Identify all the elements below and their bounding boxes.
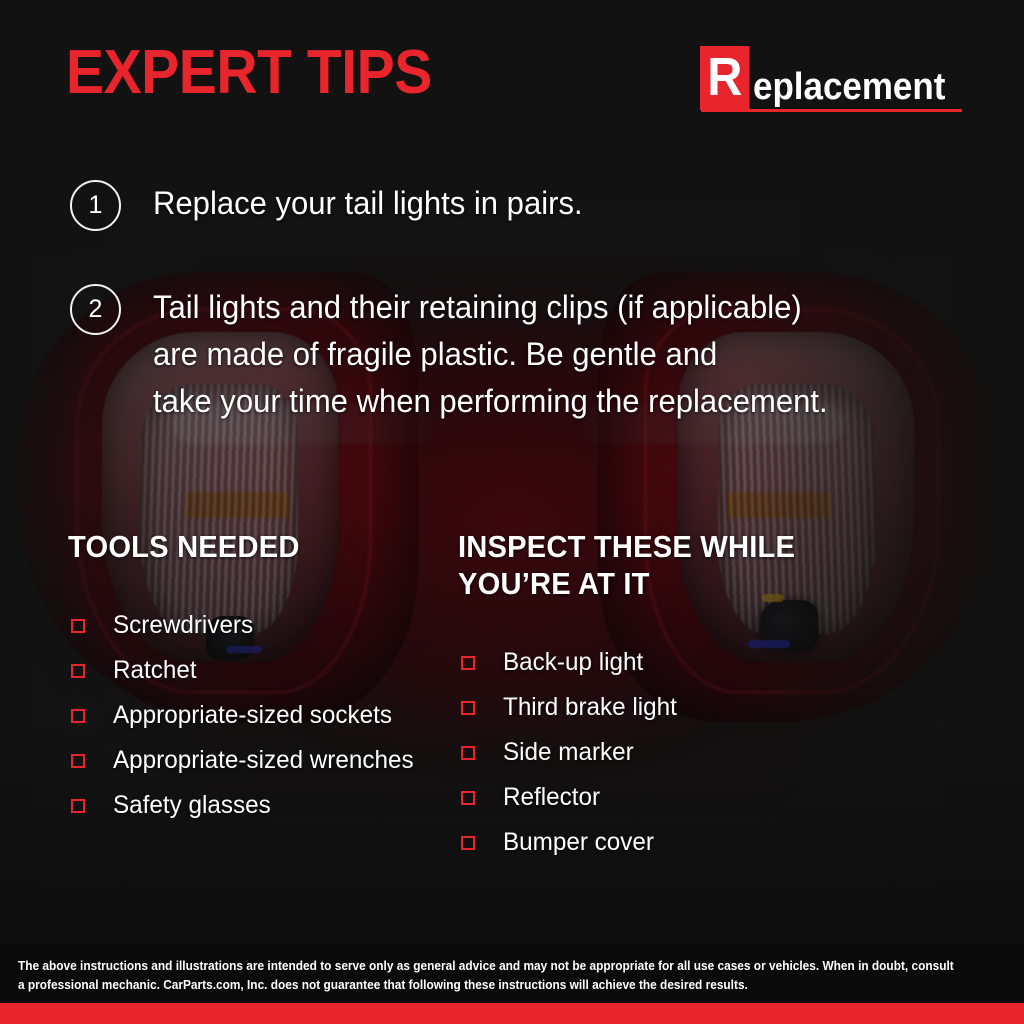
- list-item: Third brake light: [458, 685, 838, 730]
- footer-disclaimer-text: The above instructions and illustrations…: [18, 957, 957, 995]
- list-item: Back-up light: [458, 640, 838, 685]
- list-item: Bumper cover: [458, 820, 838, 865]
- tip-number-badge-2: 2: [70, 284, 121, 335]
- checkbox-square-icon: [461, 836, 475, 850]
- checkbox-square-icon: [71, 709, 85, 723]
- list-item-label: Ratchet: [113, 658, 197, 683]
- checkbox-square-icon: [461, 701, 475, 715]
- list-item: Appropriate-sized wrenches: [68, 738, 448, 783]
- list-item: Screwdrivers: [68, 603, 448, 648]
- list-item-label: Appropriate-sized sockets: [113, 703, 392, 728]
- brand-wordmark-text: eplacement: [753, 68, 945, 106]
- checkbox-square-icon: [461, 791, 475, 805]
- tools-needed-heading: TOOLS NEEDED: [68, 528, 425, 565]
- list-item-label: Side marker: [503, 740, 634, 765]
- footer-disclaimer-bar: The above instructions and illustrations…: [0, 945, 1024, 1003]
- tools-needed-list: Screwdrivers Ratchet Appropriate-sized s…: [68, 603, 448, 828]
- footer-accent-bar: [0, 1003, 1024, 1024]
- list-item: Ratchet: [68, 648, 448, 693]
- list-item-label: Reflector: [503, 785, 600, 810]
- tip-number-badge-1: 1: [70, 180, 121, 231]
- checkbox-square-icon: [71, 754, 85, 768]
- content-layer: EXPERT TIPS R eplacement 1 Replace your …: [0, 0, 1024, 1024]
- list-item-label: Back-up light: [503, 650, 643, 675]
- list-item-label: Third brake light: [503, 695, 677, 720]
- tip-item-1: 1 Replace your tail lights in pairs.: [70, 180, 596, 231]
- replacement-brand-logo: R eplacement: [700, 46, 962, 110]
- checkbox-square-icon: [461, 656, 475, 670]
- tip-text-1: Replace your tail lights in pairs.: [153, 180, 583, 227]
- inspect-these-list: Back-up light Third brake light Side mar…: [458, 640, 838, 865]
- list-item: Reflector: [458, 775, 838, 820]
- tip-text-2: Tail lights and their retaining clips (i…: [153, 284, 828, 425]
- checkbox-square-icon: [71, 664, 85, 678]
- page-title: EXPERT TIPS: [66, 42, 432, 104]
- list-item: Side marker: [458, 730, 838, 775]
- tip-item-2: 2 Tail lights and their retaining clips …: [70, 284, 848, 425]
- brand-initial-badge: R: [700, 46, 750, 110]
- expert-tips-infographic: EXPERT TIPS R eplacement 1 Replace your …: [0, 0, 1024, 1024]
- checkbox-square-icon: [461, 746, 475, 760]
- list-item-label: Safety glasses: [113, 793, 271, 818]
- checkbox-square-icon: [71, 799, 85, 813]
- list-item: Safety glasses: [68, 783, 448, 828]
- list-item-label: Bumper cover: [503, 830, 654, 855]
- inspect-these-column: INSPECT THESE WHILE YOU’RE AT IT Back-up…: [458, 528, 838, 865]
- tools-needed-column: TOOLS NEEDED Screwdrivers Ratchet Approp…: [68, 528, 448, 828]
- checkbox-square-icon: [71, 619, 85, 633]
- list-item-label: Appropriate-sized wrenches: [113, 748, 414, 773]
- list-item-label: Screwdrivers: [113, 613, 253, 638]
- brand-wordmark: eplacement: [753, 68, 962, 110]
- inspect-these-heading: INSPECT THESE WHILE YOU’RE AT IT: [458, 528, 815, 602]
- brand-underline: [701, 109, 962, 112]
- list-item: Appropriate-sized sockets: [68, 693, 448, 738]
